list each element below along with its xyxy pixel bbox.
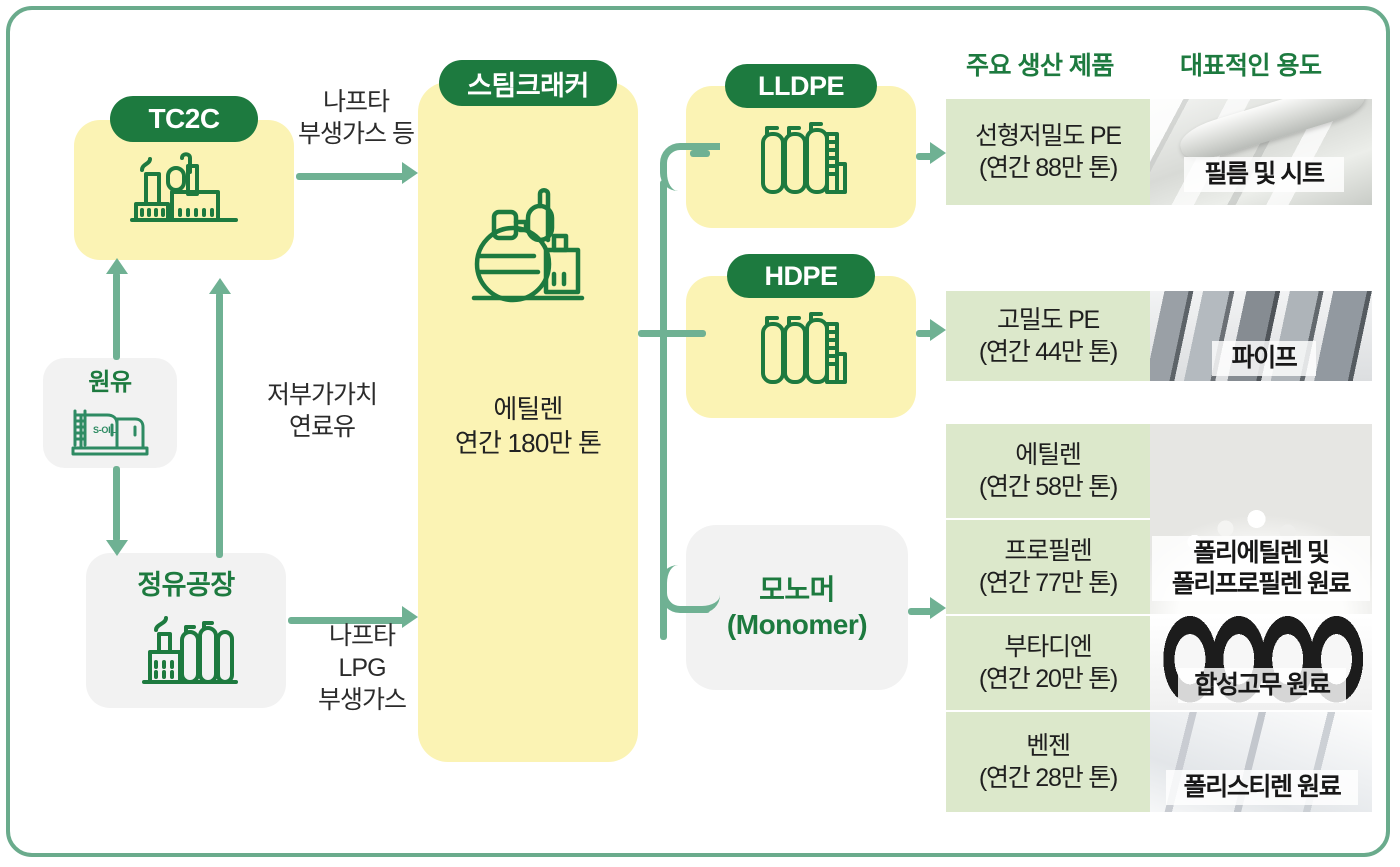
edge-label-tc2c-to-cracker: 나프타 부생가스 등 [286,86,426,150]
product-name-4: 부타디엔 (연간 20만 톤) [946,616,1150,712]
silo-tanks-icon [755,116,847,203]
column-header-uses: 대표적인 용도 [1180,46,1321,82]
connector-crude-to-tc2c [113,272,120,360]
connector-trunk-to-lldpe [690,150,710,157]
connector-trunk-to-monomer [690,606,710,613]
connector-refinery-to-tc2c [216,292,223,558]
refinery-silo-icon [134,610,238,693]
connector-crude-to-refinery [113,466,120,542]
node-crude-oil[interactable]: 원유 S-OIL [43,358,177,468]
connector-trunk-to-hdpe [660,330,706,337]
cracker-vessel-icon [466,178,590,319]
edge-label-refinery-to-tc2c: 저부가가치 연료유 [232,379,412,443]
product-name-3: 프로필렌 (연간 77만 톤) [946,520,1150,616]
arrowhead-lldpe-to-product [930,142,946,164]
column-header-products: 주요 생산 제품 [966,46,1114,82]
node-steam-cracker-label: 스팀크래커 [439,60,617,106]
arrowhead-monomer-to-product [930,597,946,619]
use-photo-5: 폴리스티렌 원료 [1150,712,1372,812]
product-name-1: 고밀도 PE (연간 44만 톤) [946,291,1150,383]
use-caption-3: 폴리에틸렌 및 폴리프로필렌 원료 [1152,536,1370,601]
node-refinery[interactable]: 정유공장 [86,553,286,708]
node-steam-cracker-caption: 에틸렌 연간 180만 톤 [455,393,601,461]
use-caption-4: 합성고무 원료 [1178,668,1346,703]
use-photo-0: 필름 및 시트 [1150,99,1372,207]
node-tc2c-label: TC2C [110,96,258,142]
node-crude-oil-label: 원유 [88,368,131,397]
use-caption-0: 필름 및 시트 [1184,157,1344,192]
use-photo-1: 파이프 [1150,291,1372,383]
arrowhead-crude-to-tc2c [106,258,128,274]
node-hdpe-label: HDPE [727,254,875,298]
node-lldpe-label: LLDPE [725,64,877,108]
oil-tank-icon: S-OIL [67,401,153,462]
process-flow-diagram: 주요 생산 제품 대표적인 용도 TC2C 원유 [0,0,1400,867]
edge-label-refinery-to-cracker: 나프타 LPG 부생가스 [292,620,432,716]
oil-tank-brand: S-OIL [93,425,116,435]
use-photo-4: 합성고무 원료 [1150,616,1372,712]
silo-tanks-icon [755,306,847,393]
node-refinery-label: 정유공장 [137,569,234,602]
use-photo-2: 폴리에틸렌 및 폴리프로필렌 원료 [1150,424,1372,616]
arrowhead-hdpe-to-product [930,319,946,341]
use-caption-1: 파이프 [1212,341,1316,376]
product-name-2: 에틸렌 (연간 58만 톤) [946,424,1150,520]
node-monomer[interactable]: 모노머 (Monomer) [686,525,908,690]
node-tc2c[interactable]: TC2C [74,120,294,260]
refinery-plant-icon [130,148,238,231]
arrowhead-crude-to-refinery [106,540,128,556]
product-name-5: 벤젠 (연간 28만 톤) [946,712,1150,812]
arrowhead-tc2c-to-cracker [402,162,418,184]
use-caption-5: 폴리스티렌 원료 [1166,770,1358,805]
arrowhead-refinery-to-tc2c [209,278,231,294]
connector-tc2c-to-cracker [296,173,406,180]
node-steam-cracker[interactable]: 스팀크래커 에틸렌 연간 180만 톤 [418,82,638,762]
product-name-0: 선형저밀도 PE (연간 88만 톤) [946,99,1150,207]
node-lldpe[interactable]: LLDPE [686,86,916,228]
node-hdpe[interactable]: HDPE [686,276,916,418]
